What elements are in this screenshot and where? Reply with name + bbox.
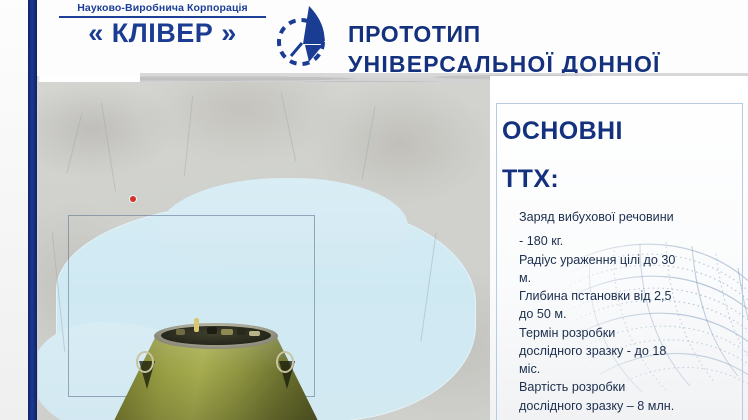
spec-item: Радіус ураження цілі до 30 xyxy=(519,251,741,269)
spec-item: до 50 м. xyxy=(519,305,741,323)
left-margin xyxy=(0,0,28,420)
left-blue-rail xyxy=(28,0,37,420)
mine-fitting xyxy=(207,327,217,334)
logo-subtitle: Науково-Виробнича Корпорація xyxy=(55,2,270,14)
mine-fitting xyxy=(176,329,185,335)
spec-item: дослідного зразку – 8 млн. xyxy=(519,397,741,415)
spec-item: Вартість розробки xyxy=(519,378,741,396)
spec-item: м. xyxy=(519,269,741,287)
spec-item: міс. xyxy=(519,360,741,378)
spec-item: - 180 кг. xyxy=(519,232,741,250)
panel-heading-line-2: ТТХ: xyxy=(502,165,559,194)
mine-fitting xyxy=(237,328,246,335)
location-marker-icon xyxy=(130,196,136,202)
black-sea-region-map xyxy=(38,82,490,420)
spec-item: Термін розробки xyxy=(519,324,741,342)
spec-list: Заряд вибухової речовини - 180 кг. Радіу… xyxy=(519,208,741,420)
mine-fitting xyxy=(194,318,199,332)
page-title-line-1: ПРОТОТИП xyxy=(348,20,748,50)
sail-boat-in-circle-icon xyxy=(269,4,341,72)
spec-item: дослідного зразку - до 18 xyxy=(519,342,741,360)
specs-panel: ОСНОВНІ ТТХ: Заряд вибухової речовини - … xyxy=(490,76,748,420)
spec-item: Глибина пстановки від 2,5 xyxy=(519,287,741,305)
spec-item: Заряд вибухової речовини xyxy=(519,208,741,226)
slide-canvas: Науково-Виробнича Корпорація « КЛІВЕР » … xyxy=(0,0,748,420)
logo-name: « КЛІВЕР » xyxy=(55,19,270,47)
panel-heading-line-1: ОСНОВНІ xyxy=(502,117,623,146)
slide-header: Науково-Виробнича Корпорація « КЛІВЕР » … xyxy=(37,0,748,76)
panel-content: ОСНОВНІ ТТХ: Заряд вибухової речовини - … xyxy=(496,103,741,420)
spec-item: грн. xyxy=(519,415,741,420)
mine-lifting-ring-left xyxy=(136,351,154,373)
mine-fitting xyxy=(249,331,260,336)
page-title: ПРОТОТИП УНІВЕРСАЛЬНОЇ ДОННОЇ xyxy=(348,20,748,80)
company-logo: Науково-Виробнича Корпорація « КЛІВЕР » xyxy=(55,2,270,47)
mine-lifting-ring-right xyxy=(276,351,294,373)
bottom-mine-photo xyxy=(101,315,331,420)
mine-fitting xyxy=(221,329,233,335)
